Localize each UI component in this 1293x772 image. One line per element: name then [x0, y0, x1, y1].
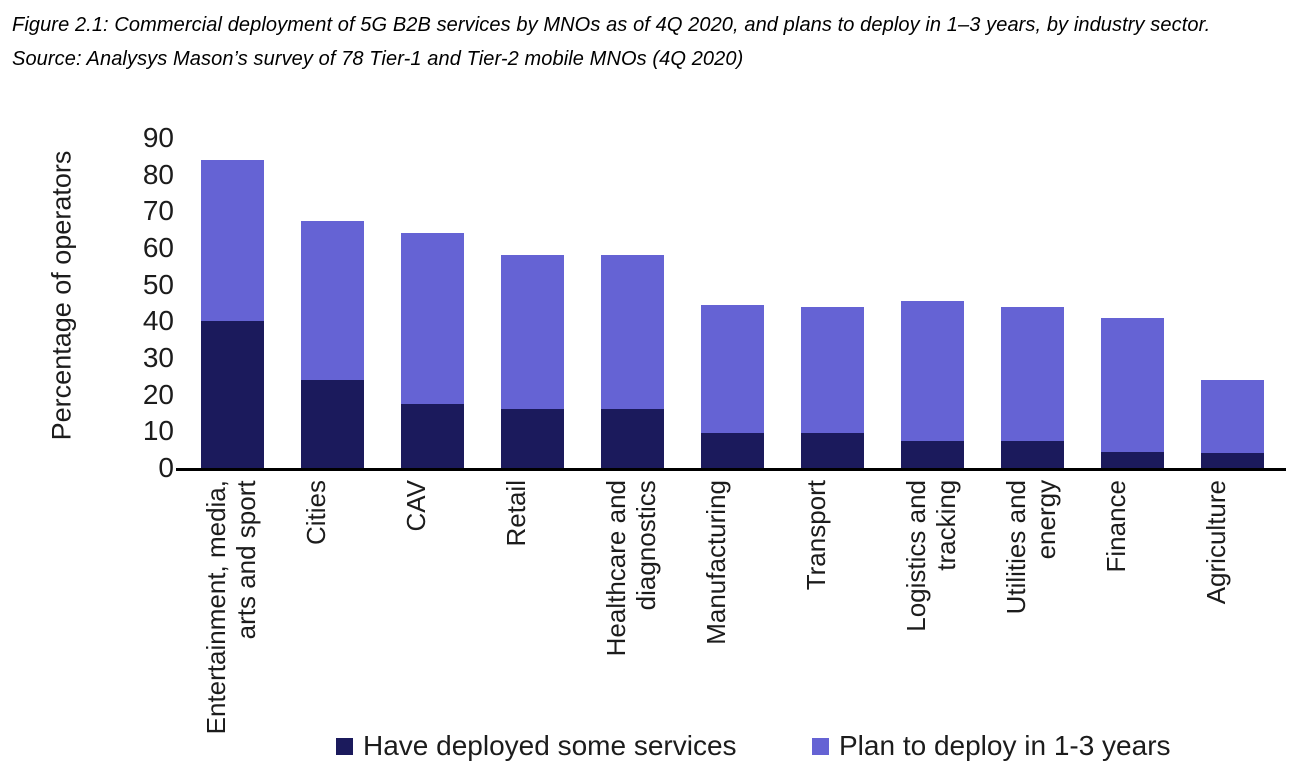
y-tick-0: 0 [118, 454, 174, 482]
bar-group[interactable] [901, 301, 964, 468]
x-tick-label: Manufacturing [701, 480, 764, 645]
bar-group[interactable] [201, 160, 264, 468]
bar-segment-plan[interactable] [1101, 318, 1164, 452]
bar-chart: Percentage of operators 9080706050403020… [0, 100, 1293, 772]
bar-segment-deployed[interactable] [301, 380, 364, 468]
bar-group[interactable] [1101, 318, 1164, 468]
chart-legend: Have deployed some services Plan to depl… [0, 726, 1293, 772]
bar-segment-deployed[interactable] [501, 409, 564, 468]
bar-group[interactable] [701, 305, 764, 468]
x-tick-label: Logistics and tracking [901, 480, 964, 632]
bar-segment-plan[interactable] [801, 307, 864, 434]
y-tick-90: 90 [118, 124, 174, 152]
legend-swatch-deployed-icon [336, 738, 353, 755]
bar-group[interactable] [801, 307, 864, 468]
bar-segment-deployed[interactable] [801, 433, 864, 468]
y-tick-70: 70 [118, 197, 174, 225]
bar-segment-deployed[interactable] [601, 409, 664, 468]
bar-segment-plan[interactable] [901, 301, 964, 440]
bar-group[interactable] [601, 255, 664, 468]
bar-segment-plan[interactable] [401, 233, 464, 404]
x-axis-tick-labels: Entertainment, media, arts and sportCiti… [182, 472, 1282, 752]
y-tick-10: 10 [118, 417, 174, 445]
x-tick-label: Finance [1101, 480, 1164, 573]
x-tick-label: Entertainment, media, arts and sport [201, 480, 264, 734]
x-tick-label: Utilities and energy [1001, 480, 1064, 614]
bar-segment-deployed[interactable] [901, 441, 964, 469]
x-tick-label: CAV [401, 480, 464, 532]
bar-segment-deployed[interactable] [1001, 441, 1064, 469]
bar-segment-plan[interactable] [701, 305, 764, 433]
bar-segment-deployed[interactable] [1201, 453, 1264, 468]
y-tick-50: 50 [118, 271, 174, 299]
y-axis-tick-labels: 9080706050403020100 [118, 100, 174, 468]
bar-group[interactable] [401, 233, 464, 468]
bar-group[interactable] [1001, 307, 1064, 468]
legend-item-deployed: Have deployed some services [336, 730, 737, 762]
bar-group[interactable] [301, 221, 364, 469]
bar-segment-deployed[interactable] [201, 321, 264, 468]
legend-label-deployed: Have deployed some services [363, 730, 737, 762]
bar-group[interactable] [501, 255, 564, 468]
x-tick-label: Agriculture [1201, 480, 1264, 604]
bar-segment-deployed[interactable] [1101, 452, 1164, 469]
x-tick-label: Transport [801, 480, 864, 590]
legend-swatch-plan-icon [812, 738, 829, 755]
y-tick-40: 40 [118, 307, 174, 335]
x-tick-label: Retail [501, 480, 564, 546]
plot-area [182, 138, 1282, 468]
bar-segment-plan[interactable] [1201, 380, 1264, 453]
x-tick-label: Healthcare and diagnostics [601, 480, 664, 656]
bar-segment-plan[interactable] [501, 255, 564, 409]
bar-segment-plan[interactable] [301, 221, 364, 381]
bar-segment-deployed[interactable] [401, 404, 464, 468]
bar-segment-plan[interactable] [601, 255, 664, 409]
x-axis-line [176, 468, 1286, 471]
x-tick-label: Cities [301, 480, 364, 545]
legend-label-plan: Plan to deploy in 1-3 years [839, 730, 1171, 762]
y-tick-80: 80 [118, 161, 174, 189]
y-tick-30: 30 [118, 344, 174, 372]
bar-segment-deployed[interactable] [701, 433, 764, 468]
y-tick-20: 20 [118, 381, 174, 409]
legend-item-plan: Plan to deploy in 1-3 years [812, 730, 1171, 762]
y-tick-60: 60 [118, 234, 174, 262]
bar-segment-plan[interactable] [1001, 307, 1064, 441]
bar-segment-plan[interactable] [201, 160, 264, 321]
bar-group[interactable] [1201, 380, 1264, 468]
y-axis-title: Percentage of operators [47, 146, 78, 446]
figure-caption: Figure 2.1: Commercial deployment of 5G … [12, 8, 1282, 76]
